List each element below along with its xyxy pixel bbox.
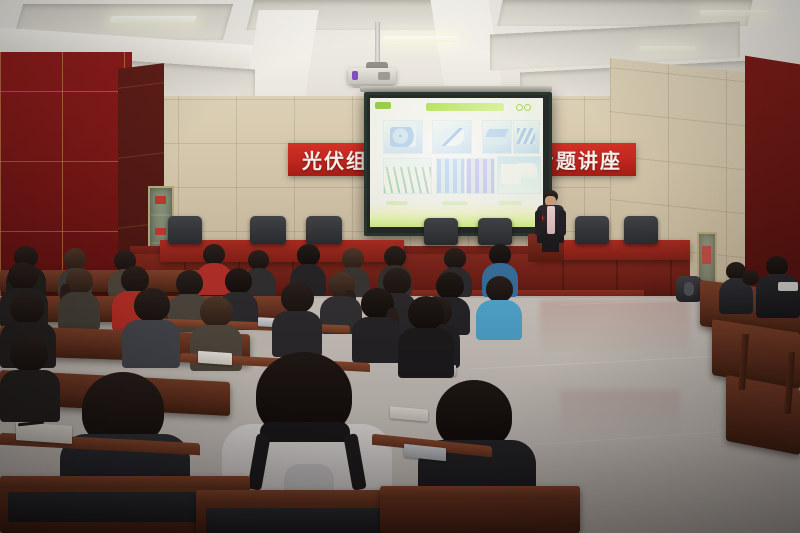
audience-person-b9 bbox=[476, 276, 522, 336]
presenter-legs bbox=[542, 240, 559, 252]
stage-chair-1 bbox=[168, 216, 202, 244]
cabinet-right-item bbox=[702, 246, 711, 264]
ceiling-light-2 bbox=[382, 36, 458, 42]
ceiling-light-4 bbox=[640, 46, 697, 51]
audience-head bbox=[134, 288, 170, 322]
thumb-pv-panel-a bbox=[436, 158, 465, 194]
audience-person-b2 bbox=[58, 268, 100, 326]
thumb-sheets-art bbox=[517, 128, 535, 144]
bench-front-left-top bbox=[0, 476, 250, 488]
slide-footer-mark-3 bbox=[498, 201, 522, 205]
audience-body bbox=[58, 292, 100, 330]
bench-front-right-top bbox=[380, 486, 580, 498]
presenter-arm-right bbox=[559, 210, 566, 236]
thumb-stack-layer-2 bbox=[485, 138, 508, 145]
thumb-solar-field bbox=[383, 158, 432, 194]
slide-bullet-1 bbox=[516, 104, 523, 111]
audience-head bbox=[444, 248, 466, 269]
thumb-fan-diagram bbox=[497, 156, 541, 194]
audience-body-lightblue bbox=[476, 300, 522, 340]
audience-head bbox=[436, 272, 464, 299]
stage-chair-4 bbox=[424, 218, 458, 245]
projector-lens-icon bbox=[352, 71, 358, 80]
audience-head bbox=[225, 268, 252, 294]
audience-head bbox=[342, 248, 364, 269]
auditorium-photo: 光伏组件 专题讲座 bbox=[0, 0, 800, 533]
stage-chair-5 bbox=[478, 218, 512, 245]
audience-person-d1 bbox=[0, 336, 60, 416]
slide-title-bar bbox=[426, 103, 504, 111]
audience-person-c4 bbox=[272, 282, 322, 352]
presenter-shirt bbox=[547, 206, 555, 234]
cabinet-item-2 bbox=[155, 228, 166, 235]
backpack-strap bbox=[684, 282, 694, 296]
jacket-collar bbox=[260, 422, 350, 442]
audience-head bbox=[384, 246, 406, 267]
audience-body bbox=[272, 311, 322, 357]
stage-chair-7 bbox=[624, 216, 658, 244]
audience-head bbox=[10, 336, 48, 372]
thumb-cells-art bbox=[440, 128, 464, 146]
floor-banner-reflection bbox=[540, 300, 690, 360]
audience-head bbox=[10, 292, 44, 324]
ceiling-light-3 bbox=[699, 10, 770, 16]
backpack-on-floor bbox=[676, 276, 702, 302]
audience-person-d2 bbox=[398, 296, 454, 374]
thumb-wafer-art bbox=[390, 127, 416, 147]
audience-head bbox=[486, 276, 513, 302]
slide-footer-mark-1 bbox=[386, 201, 408, 205]
slide-content bbox=[370, 98, 543, 227]
audience-head bbox=[248, 250, 269, 270]
presenter bbox=[532, 190, 570, 252]
audience-head bbox=[297, 244, 320, 266]
thumb-field-rows bbox=[384, 167, 431, 193]
audience-head bbox=[8, 262, 38, 290]
audience-body bbox=[0, 370, 60, 422]
thumb-stack bbox=[482, 120, 512, 154]
audience-person-c5 bbox=[352, 288, 402, 358]
audience-head bbox=[489, 244, 511, 265]
audience-head bbox=[200, 296, 233, 327]
projection-screen bbox=[364, 92, 552, 236]
jacket-logo-text bbox=[778, 282, 798, 291]
audience-head bbox=[766, 256, 788, 276]
thumb-stack-layer-1 bbox=[485, 129, 509, 137]
ceiling-light-1 bbox=[109, 16, 198, 23]
audience-head bbox=[281, 282, 314, 313]
audience-body bbox=[398, 328, 454, 378]
thumb-sheets bbox=[513, 120, 540, 154]
bench-front-right bbox=[380, 486, 580, 533]
presenter-arm-left bbox=[535, 210, 542, 236]
thumb-cells bbox=[432, 120, 472, 154]
floor-banner-reflection-2 bbox=[560, 390, 680, 436]
stage-chair-3 bbox=[306, 216, 342, 244]
slide-footer-mark-2 bbox=[442, 201, 468, 205]
audience-person-r3 bbox=[738, 270, 764, 310]
stage-chair-6 bbox=[575, 216, 609, 244]
audience-head bbox=[408, 296, 444, 330]
audience-head bbox=[203, 244, 225, 265]
audience-person-c2 bbox=[122, 288, 180, 362]
cabinet-item-1 bbox=[155, 196, 166, 204]
ceiling-projector bbox=[348, 68, 396, 84]
slide-bullet-2 bbox=[524, 104, 531, 111]
stage-chair-2 bbox=[250, 216, 286, 244]
thumb-wafer bbox=[383, 120, 423, 154]
slide-accent-tab bbox=[375, 102, 391, 109]
projector-pole bbox=[375, 22, 380, 66]
audience-head bbox=[742, 270, 759, 285]
audience-head bbox=[176, 270, 203, 296]
thumb-pv-panel-b bbox=[466, 158, 495, 194]
thumb-fan-card bbox=[518, 163, 537, 179]
cabinet-shelf-1 bbox=[151, 214, 171, 216]
audience-body-grey bbox=[122, 320, 180, 368]
projector-vent bbox=[378, 72, 390, 80]
audience-head bbox=[64, 248, 86, 270]
